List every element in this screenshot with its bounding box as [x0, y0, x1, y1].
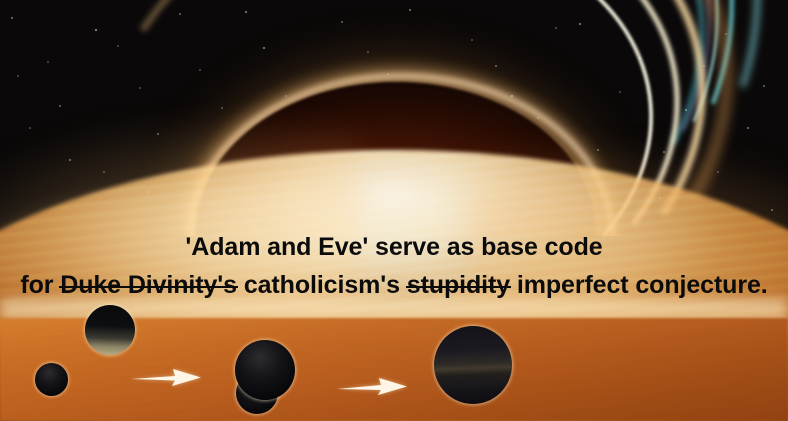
- arrow-right-icon: [337, 375, 409, 397]
- sphere-1-small-left: [35, 363, 68, 396]
- caption-seg-stupidity-struck: stupidity: [407, 271, 510, 299]
- caption-line1-text: 'Adam and Eve' serve as base code: [185, 233, 602, 261]
- sphere-3-large: [235, 340, 295, 400]
- caption-seg-imperfect-conjecture: imperfect conjecture.: [510, 271, 768, 299]
- arrow-right-icon: [131, 366, 203, 388]
- sphere-4-banded: [434, 326, 512, 404]
- arrow-1: [131, 366, 203, 388]
- caption-seg-catholicism: catholicism's: [237, 271, 407, 299]
- caption-seg-for: for: [20, 271, 60, 299]
- arrow-2: [337, 375, 409, 397]
- caption-seg-duke-divinity-struck: Duke Divinity's: [60, 271, 237, 299]
- caption-line-2: for Duke Divinity's catholicism's stupid…: [0, 271, 788, 299]
- caption-line-1: 'Adam and Eve' serve as base code: [0, 233, 788, 261]
- meme-image: 'Adam and Eve' serve as base code for Du…: [0, 0, 788, 421]
- sphere-2-upper: [85, 305, 135, 355]
